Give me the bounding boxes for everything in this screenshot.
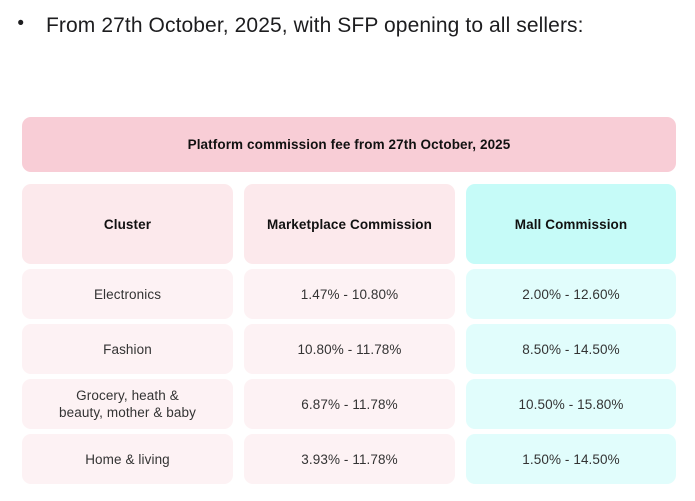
cell-text: Electronics — [94, 286, 161, 303]
cell-text: 10.80% - 11.78% — [297, 341, 401, 358]
table-row: Grocery, heath & beauty, mother & baby 6… — [22, 379, 676, 429]
cell-cluster: Home & living — [22, 434, 233, 484]
table-row: Electronics 1.47% - 10.80% 2.00% - 12.60… — [22, 269, 676, 319]
column-header-marketplace-commission: Marketplace Commission — [244, 184, 455, 264]
cell-text: 3.93% - 11.78% — [301, 451, 397, 468]
column-header-label: Mall Commission — [515, 217, 628, 232]
cell-text: 1.47% - 10.80% — [301, 286, 398, 303]
cell-mall-commission: 10.50% - 15.80% — [466, 379, 676, 429]
page-root: • From 27th October, 2025, with SFP open… — [0, 0, 695, 501]
bullet-point-icon: • — [0, 4, 24, 44]
cell-text: Fashion — [103, 341, 152, 358]
cell-mall-commission: 2.00% - 12.60% — [466, 269, 676, 319]
table-title-banner: Platform commission fee from 27th Octobe… — [22, 117, 676, 172]
column-header-cluster: Cluster — [22, 184, 233, 264]
column-header-mall-commission: Mall Commission — [466, 184, 676, 264]
cell-text: Home & living — [85, 451, 170, 468]
intro-bullet-item: • From 27th October, 2025, with SFP open… — [0, 4, 695, 47]
cell-marketplace-commission: 6.87% - 11.78% — [244, 379, 455, 429]
table-title: Platform commission fee from 27th Octobe… — [188, 137, 511, 152]
cell-text: 2.00% - 12.60% — [522, 286, 619, 303]
table-header-row: Cluster Marketplace Commission Mall Comm… — [22, 184, 676, 264]
cell-mall-commission: 8.50% - 14.50% — [466, 324, 676, 374]
cell-cluster: Grocery, heath & beauty, mother & baby — [22, 379, 233, 429]
cell-cluster: Electronics — [22, 269, 233, 319]
cell-cluster: Fashion — [22, 324, 233, 374]
cell-marketplace-commission: 3.93% - 11.78% — [244, 434, 455, 484]
cell-text: Grocery, heath & beauty, mother & baby — [59, 387, 196, 421]
table-row: Fashion 10.80% - 11.78% 8.50% - 14.50% — [22, 324, 676, 374]
cell-text: 6.87% - 11.78% — [301, 396, 397, 413]
cell-marketplace-commission: 10.80% - 11.78% — [244, 324, 455, 374]
commission-fee-table: Platform commission fee from 27th Octobe… — [22, 117, 676, 484]
column-header-label: Cluster — [104, 217, 151, 232]
cell-text: 10.50% - 15.80% — [518, 396, 623, 413]
table-row: Home & living 3.93% - 11.78% 1.50% - 14.… — [22, 434, 676, 484]
intro-text: From 27th October, 2025, with SFP openin… — [46, 4, 584, 47]
cell-marketplace-commission: 1.47% - 10.80% — [244, 269, 455, 319]
column-header-label: Marketplace Commission — [267, 217, 432, 232]
cell-text: 8.50% - 14.50% — [522, 341, 619, 358]
cell-text: 1.50% - 14.50% — [522, 451, 619, 468]
cell-mall-commission: 1.50% - 14.50% — [466, 434, 676, 484]
